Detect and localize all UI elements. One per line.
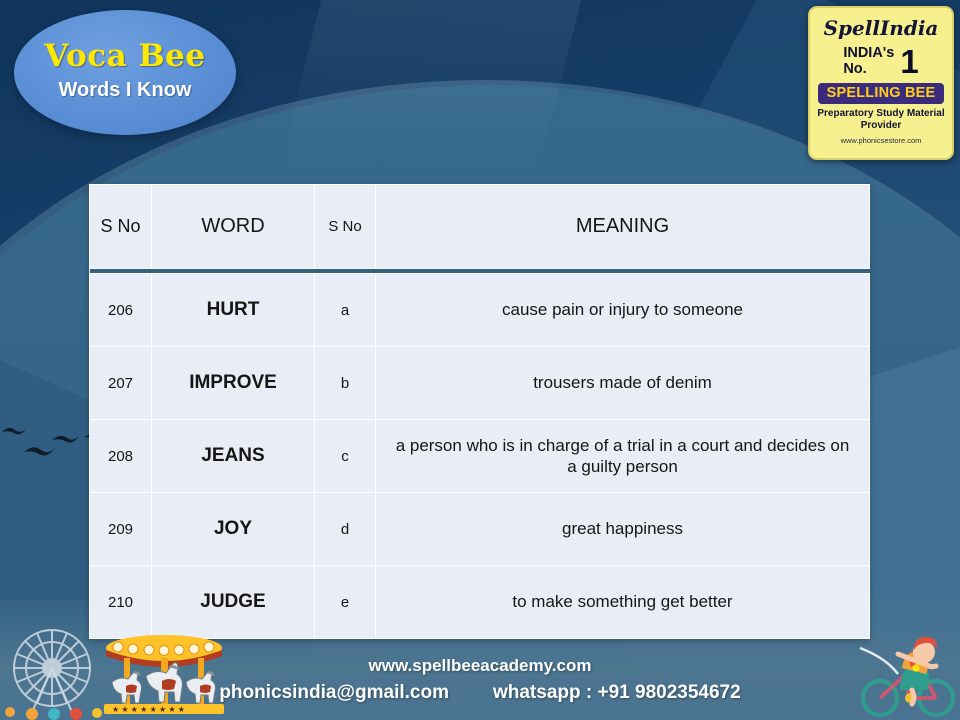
header-meaning: MEANING <box>376 185 870 269</box>
cell-index: e <box>315 566 376 639</box>
cell-word: IMPROVE <box>152 347 315 420</box>
cell-meaning: trousers made of denim <box>376 347 870 420</box>
cell-word: JOY <box>152 493 315 566</box>
spellindia-rank-number: 1 <box>900 47 918 77</box>
spellindia-tagline-line1: Preparatory Study Material <box>816 108 946 121</box>
cell-sno: 208 <box>90 420 152 493</box>
cell-index: a <box>315 274 376 347</box>
cell-word: JUDGE <box>152 566 315 639</box>
badge-title: Voca Bee <box>44 39 205 73</box>
cell-word: JEANS <box>152 420 315 493</box>
cell-meaning: to make something get better <box>376 566 870 639</box>
cell-meaning: great happiness <box>376 493 870 566</box>
table-row: 209 JOY d great happiness <box>90 493 870 566</box>
words-table-body: 206 HURT a cause pain or injury to someo… <box>90 274 870 639</box>
footer: www.spellbeeacademy.com phonicsindia@gma… <box>0 656 960 704</box>
spellindia-brand: SpellIndia <box>816 16 946 41</box>
header-word: WORD <box>152 185 315 269</box>
cell-sno: 206 <box>90 274 152 347</box>
voca-bee-badge: Voca Bee Words I Know <box>14 10 236 135</box>
cell-meaning: cause pain or injury to someone <box>376 274 870 347</box>
cell-index: d <box>315 493 376 566</box>
header-sno-2: S No <box>315 185 376 269</box>
words-table-head: S No WORD S No MEANING <box>90 185 870 269</box>
spellindia-banner: SPELLING BEE <box>818 83 944 104</box>
spellindia-rank-line2: No. <box>843 62 894 78</box>
slide-canvas: Voca Bee Words I Know SpellIndia INDIA's… <box>0 0 960 720</box>
svg-text:★ ★ ★ ★ ★ ★ ★ ★: ★ ★ ★ ★ ★ ★ ★ ★ <box>112 705 185 714</box>
background-light-streak <box>279 0 581 170</box>
table-row: 206 HURT a cause pain or injury to someo… <box>90 274 870 347</box>
cell-index: b <box>315 347 376 420</box>
table-row: 208 JEANS c a person who is in charge of… <box>90 420 870 493</box>
header-row: S No WORD S No MEANING <box>90 185 870 269</box>
spellindia-logo-card: SpellIndia INDIA's No. 1 SPELLING BEE Pr… <box>808 6 954 160</box>
footer-contact-row: phonicsindia@gmail.com whatsapp : +91 98… <box>0 682 960 704</box>
spellindia-rank-words: INDIA's No. <box>843 46 894 78</box>
spellindia-url: www.phonicsestore.com <box>816 136 946 145</box>
spellindia-rank-line1: INDIA's <box>843 46 894 62</box>
cell-meaning: a person who is in charge of a trial in … <box>376 420 870 493</box>
words-table-wrapper: S No WORD S No MEANING 206 HURT a cause … <box>89 184 869 639</box>
table-row: 210 JUDGE e to make something get better <box>90 566 870 639</box>
header-sno: S No <box>90 185 152 269</box>
spellindia-tagline-line2: Provider <box>816 120 946 133</box>
words-table: S No WORD S No MEANING 206 HURT a cause … <box>89 184 870 639</box>
footer-whatsapp: whatsapp : +91 9802354672 <box>493 682 741 704</box>
cell-index: c <box>315 420 376 493</box>
cell-sno: 207 <box>90 347 152 420</box>
badge-subtitle: Words I Know <box>59 79 192 102</box>
spellindia-rank: INDIA's No. 1 <box>816 46 946 78</box>
footer-email: phonicsindia@gmail.com <box>219 682 449 704</box>
cell-word: HURT <box>152 274 315 347</box>
spellindia-tagline: Preparatory Study Material Provider <box>816 108 946 133</box>
table-row: 207 IMPROVE b trousers made of denim <box>90 347 870 420</box>
cell-sno: 209 <box>90 493 152 566</box>
footer-website: www.spellbeeacademy.com <box>0 656 960 676</box>
